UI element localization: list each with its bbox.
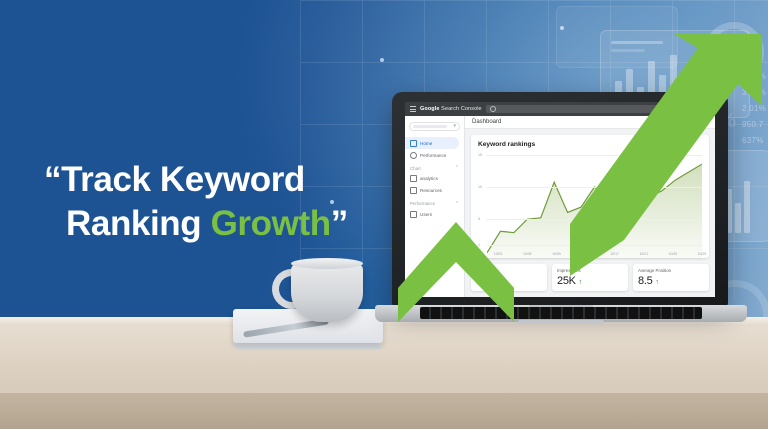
sidebar-item-label: Users [420,212,432,217]
stat-label: Clicks [476,268,542,273]
background-ghost-number: 950.7 [742,120,764,129]
chart-area-series [487,152,702,260]
performance-icon [410,152,417,159]
chart-gridline [487,245,702,246]
chart-x-tick: 10/29 [698,252,707,256]
desk-front [0,393,768,429]
users-icon [410,211,417,218]
laptop-screen: Google Search Console ▾ Home Perfor [405,102,715,297]
trend-up-icon: ↑ [655,279,659,286]
sidebar-item-performance[interactable]: Performance [405,149,464,161]
chevron-up-icon: ⌃ [455,201,459,207]
chevron-down-icon: ▾ [453,124,456,129]
chart-x-tick: 10/05 [523,252,532,256]
breadcrumb: Dashboard [465,116,715,129]
app-body: ▾ Home Performance Chart ⌃ analytics [405,116,715,297]
stat-value: 8.5 [638,275,652,287]
search-input[interactable] [486,105,688,113]
help-icon[interactable] [692,106,699,113]
mug-rim [291,258,363,269]
background-dot [380,58,384,62]
chevron-up-icon: ⌃ [455,165,459,171]
sidebar-group-performance[interactable]: Performance ⌃ [405,197,464,209]
background-ghost-number: 637% [742,136,764,145]
stat-card-average-position[interactable]: Average Position 8.5 ↑ [633,264,709,291]
sidebar: ▾ Home Performance Chart ⌃ analytics [405,116,465,297]
sidebar-item-label: Home [420,141,432,146]
laptop-trackpad [518,320,604,324]
chart-gridline [487,219,702,220]
sidebar-group-label: Chart [410,166,421,171]
resources-icon [410,187,417,194]
chart-x-tick: 10/13 [581,252,590,256]
chart-x-tick: 10/17 [610,252,619,256]
stat-label: Impressions [557,268,623,273]
headline-line-1: “Track Keyword [44,160,305,199]
background-ghost-number: 2.01% [742,104,766,113]
keyword-rankings-card: Keyword rankings 1510 [471,135,709,258]
chart-title: Keyword rankings [478,141,702,148]
sidebar-item-analytics[interactable]: analytics [405,173,464,185]
chart-y-tick: 5 [478,217,480,221]
stat-card-impressions[interactable]: Impressions 25K ↑ [552,264,628,291]
chart-y-tick: 15 [478,153,482,157]
background-chart-panel [556,6,678,68]
stats-row: Clicks 1.2K ↑ Impressions 25K ↑ [471,264,709,291]
chart-x-tick: 10/09 [552,252,561,256]
search-icon [490,106,496,112]
analytics-icon [410,175,417,182]
stat-card-clicks[interactable]: Clicks 1.2K ↑ [471,264,547,291]
desk-surface [0,317,768,429]
hamburger-icon[interactable] [410,106,416,112]
stat-label: Average Position [638,268,704,273]
poster-canvas: 85% 62% 56% 4.56% 3.22% 2.01% 950.7 637%… [0,0,768,429]
sidebar-group-label: Performance [410,201,435,206]
page-title: “Track Keyword Ranking Growth” [44,158,384,246]
chart-x-tick: 10/25 [669,252,678,256]
gauge-label: 85% [711,29,757,75]
sidebar-item-label: Resources [420,188,442,193]
background-ghost-number: 4.56% [742,72,766,81]
chart-y-tick: 1 [478,243,480,247]
chart-x-tick: 10/01 [494,252,503,256]
chart-gridline [487,187,702,188]
chart-y-tick: 10 [478,185,482,189]
property-selector[interactable]: ▾ [409,122,460,131]
sidebar-item-label: analytics [420,176,438,181]
stat-value: 1.2K [476,275,497,287]
app-topbar: Google Search Console [405,102,715,116]
trend-up-icon: ↑ [500,279,504,286]
trend-up-icon: ↑ [579,279,583,286]
headline-line-2: Ranking Growth” [44,202,384,246]
background-ghost-number: 3.22% [742,88,766,97]
sidebar-item-label: Performance [420,153,446,158]
chart-plot-area: 15101510/0110/0510/0910/1310/1710/2110/2… [478,152,702,255]
laptop-keyboard [420,307,702,319]
notification-bell-icon[interactable] [703,106,710,113]
sidebar-item-resources[interactable]: Resources [405,185,464,197]
sidebar-group-chart[interactable]: Chart ⌃ [405,161,464,173]
chart-gridline [487,155,702,156]
sidebar-item-users[interactable]: Users [405,208,464,220]
stat-value: 25K [557,275,576,287]
home-icon [410,140,417,147]
chart-x-tick: 10/21 [640,252,649,256]
coffee-mug [291,264,363,322]
property-name [413,125,447,128]
sidebar-item-home[interactable]: Home [405,137,459,149]
main-content: Dashboard Keyword rankings [465,116,715,297]
app-logo: Google Search Console [420,106,482,112]
